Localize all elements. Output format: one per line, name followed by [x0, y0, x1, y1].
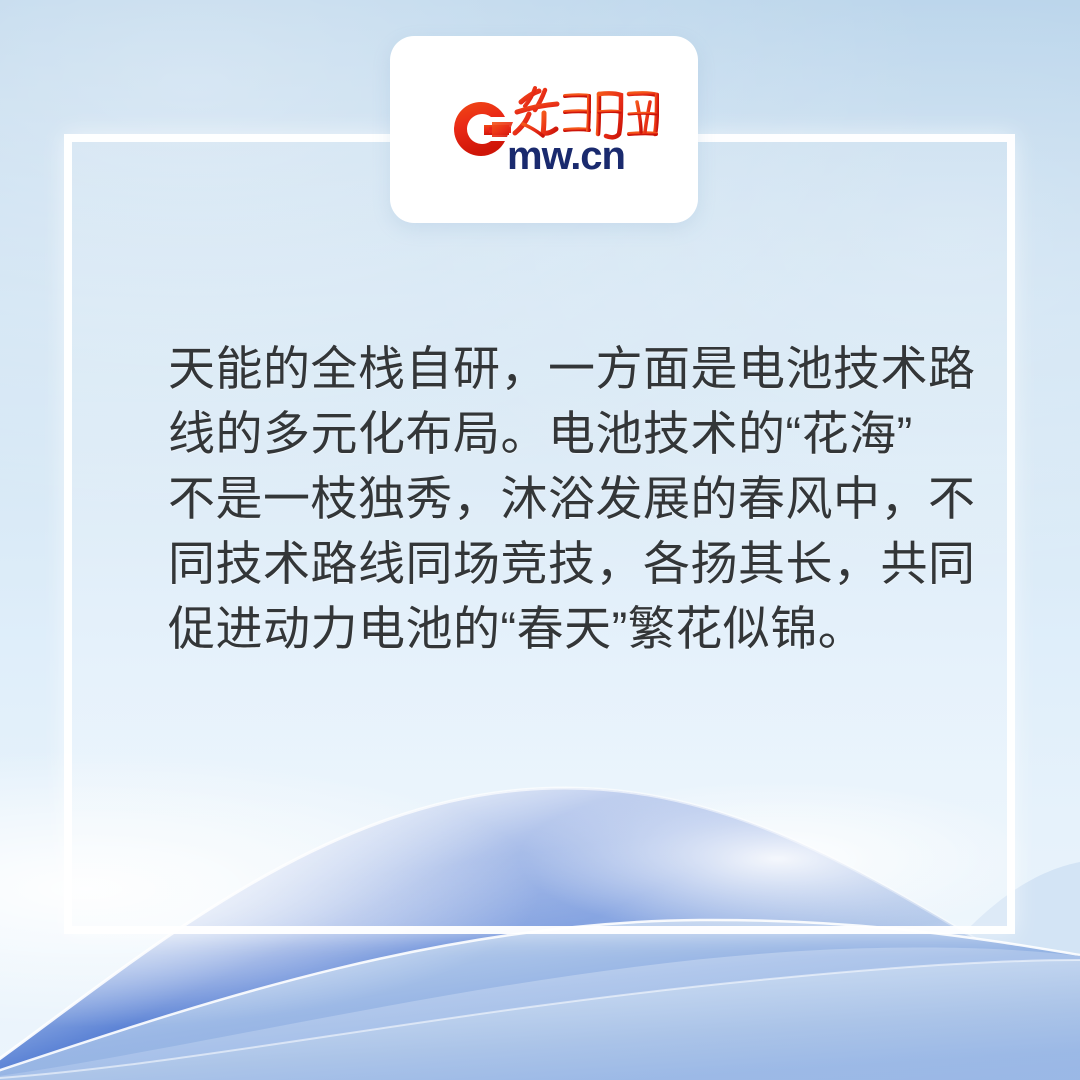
text-line: 天能的全栈自研，一方面是电池技术路 — [168, 336, 958, 401]
logo-card: mw.cn — [390, 36, 698, 223]
text-line: 同技术路线同场竞技，各扬其长，共同 — [168, 531, 958, 596]
logo-domain-text: mw.cn — [507, 134, 625, 176]
text-line: 不是一枝独秀，沐浴发展的春风中，不 — [168, 466, 958, 531]
poster-canvas: mw.cn 天能的全栈自研，一方面是电池技术路 线的多元化布局。电池技术的“花海… — [0, 0, 1080, 1080]
text-line: 线的多元化布局。电池技术的“花海” — [168, 401, 958, 466]
svg-text:mw.cn: mw.cn — [507, 134, 625, 176]
gmw-logo: mw.cn — [429, 84, 659, 176]
logo-letter-g — [454, 102, 513, 156]
article-text-block: 天能的全栈自研，一方面是电池技术路 线的多元化布局。电池技术的“花海” 不是一枝… — [168, 336, 958, 661]
text-line: 促进动力电池的“春天”繁花似锦。 — [168, 596, 958, 661]
logo-brand-characters — [515, 88, 657, 137]
gmw-logo-icon: mw.cn — [429, 84, 659, 176]
